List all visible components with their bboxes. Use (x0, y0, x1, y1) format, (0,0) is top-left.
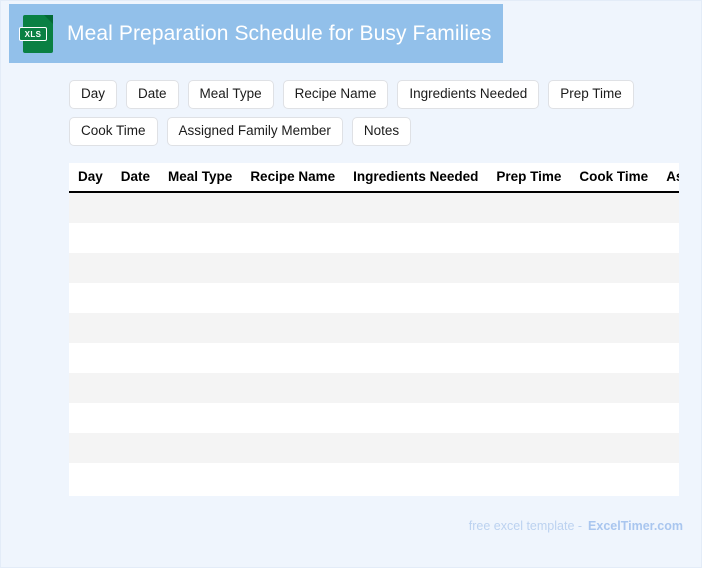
table-header-row: DayDateMeal TypeRecipe NameIngredients N… (69, 163, 679, 192)
table-column-header: Meal Type (159, 163, 241, 192)
table-row[interactable] (69, 373, 679, 403)
table-row[interactable] (69, 313, 679, 343)
table-cell[interactable] (159, 283, 241, 313)
table-cell[interactable] (344, 253, 487, 283)
table-column-header: Recipe Name (241, 163, 344, 192)
table-row[interactable] (69, 192, 679, 223)
table-cell[interactable] (159, 313, 241, 343)
table-cell[interactable] (69, 373, 112, 403)
table-cell[interactable] (159, 223, 241, 253)
xls-icon-badge: XLS (19, 27, 47, 41)
table-cell[interactable] (69, 433, 112, 463)
column-chip-notes[interactable]: Notes (352, 117, 411, 146)
table-cell[interactable] (570, 313, 657, 343)
xls-file-icon: XLS (23, 15, 53, 53)
column-chip-recipe-name[interactable]: Recipe Name (283, 80, 389, 109)
table-cell[interactable] (657, 283, 679, 313)
table-row[interactable] (69, 463, 679, 493)
table-row[interactable] (69, 253, 679, 283)
table-cell[interactable] (487, 192, 570, 223)
column-chip-cook-time[interactable]: Cook Time (69, 117, 158, 146)
table-cell[interactable] (112, 253, 159, 283)
table-cell[interactable] (657, 343, 679, 373)
schedule-table: DayDateMeal TypeRecipe NameIngredients N… (69, 163, 679, 493)
column-chip-date[interactable]: Date (126, 80, 179, 109)
table-cell[interactable] (159, 253, 241, 283)
table-cell[interactable] (570, 223, 657, 253)
table-cell[interactable] (241, 223, 344, 253)
table-cell[interactable] (570, 373, 657, 403)
table-cell[interactable] (241, 283, 344, 313)
table-cell[interactable] (112, 283, 159, 313)
table-cell[interactable] (69, 403, 112, 433)
table-cell[interactable] (570, 433, 657, 463)
footer-brand-link[interactable]: ExcelTimer.com (588, 519, 683, 533)
spreadsheet-preview: DayDateMeal TypeRecipe NameIngredients N… (69, 163, 679, 496)
table-cell[interactable] (69, 463, 112, 493)
table-cell[interactable] (657, 433, 679, 463)
table-cell[interactable] (344, 373, 487, 403)
table-cell[interactable] (487, 403, 570, 433)
table-cell[interactable] (112, 403, 159, 433)
table-cell[interactable] (344, 283, 487, 313)
table-cell[interactable] (69, 343, 112, 373)
table-cell[interactable] (657, 403, 679, 433)
table-cell[interactable] (69, 283, 112, 313)
table-row[interactable] (69, 433, 679, 463)
page-header-bar: XLS Meal Preparation Schedule for Busy F… (9, 4, 503, 63)
table-cell[interactable] (241, 192, 344, 223)
table-cell[interactable] (570, 343, 657, 373)
table-column-header: Day (69, 163, 112, 192)
table-cell[interactable] (344, 463, 487, 493)
table-cell[interactable] (570, 192, 657, 223)
table-cell[interactable] (112, 433, 159, 463)
table-cell[interactable] (487, 313, 570, 343)
column-chip-list: Day Date Meal Type Recipe Name Ingredien… (69, 80, 669, 146)
xls-icon-fold (44, 15, 53, 24)
table-cell[interactable] (487, 283, 570, 313)
table-cell[interactable] (344, 192, 487, 223)
table-cell[interactable] (657, 192, 679, 223)
table-cell[interactable] (570, 463, 657, 493)
table-cell[interactable] (69, 192, 112, 223)
column-chip-prep-time[interactable]: Prep Time (548, 80, 634, 109)
table-cell[interactable] (241, 313, 344, 343)
template-page: XLS Meal Preparation Schedule for Busy F… (0, 0, 702, 568)
table-column-header: Ingredients Needed (344, 163, 487, 192)
column-chip-ingredients-needed[interactable]: Ingredients Needed (397, 80, 539, 109)
footer-text: free excel template - (469, 519, 582, 533)
table-cell[interactable] (241, 343, 344, 373)
table-cell[interactable] (487, 373, 570, 403)
table-cell[interactable] (487, 223, 570, 253)
table-column-header: Date (112, 163, 159, 192)
table-cell[interactable] (159, 403, 241, 433)
column-chip-day[interactable]: Day (69, 80, 117, 109)
table-cell[interactable] (112, 463, 159, 493)
table-cell[interactable] (344, 313, 487, 343)
table-cell[interactable] (487, 343, 570, 373)
table-body (69, 192, 679, 493)
table-cell[interactable] (159, 343, 241, 373)
footer-credit: free excel template -ExcelTimer.com (469, 519, 683, 533)
page-title: Meal Preparation Schedule for Busy Famil… (67, 22, 492, 46)
table-cell[interactable] (112, 313, 159, 343)
table-row[interactable] (69, 343, 679, 373)
table-cell[interactable] (159, 433, 241, 463)
table-row[interactable] (69, 403, 679, 433)
table-cell[interactable] (344, 403, 487, 433)
table-row[interactable] (69, 223, 679, 253)
table-cell[interactable] (570, 403, 657, 433)
table-cell[interactable] (112, 223, 159, 253)
table-cell[interactable] (69, 253, 112, 283)
table-cell[interactable] (344, 223, 487, 253)
table-cell[interactable] (570, 283, 657, 313)
table-cell[interactable] (159, 463, 241, 493)
column-chip-meal-type[interactable]: Meal Type (188, 80, 274, 109)
table-cell[interactable] (159, 192, 241, 223)
table-cell[interactable] (241, 373, 344, 403)
table-cell[interactable] (112, 373, 159, 403)
table-cell[interactable] (69, 223, 112, 253)
table-row[interactable] (69, 283, 679, 313)
table-cell[interactable] (657, 373, 679, 403)
table-cell[interactable] (241, 463, 344, 493)
table-header: DayDateMeal TypeRecipe NameIngredients N… (69, 163, 679, 192)
table-cell[interactable] (657, 253, 679, 283)
table-cell[interactable] (112, 343, 159, 373)
column-chip-assigned-family-member[interactable]: Assigned Family Member (167, 117, 343, 146)
table-cell[interactable] (657, 223, 679, 253)
table-cell[interactable] (487, 253, 570, 283)
table-cell[interactable] (344, 433, 487, 463)
table-cell[interactable] (69, 313, 112, 343)
table-cell[interactable] (241, 433, 344, 463)
table-cell[interactable] (112, 192, 159, 223)
table-column-header: Prep Time (487, 163, 570, 192)
table-cell[interactable] (241, 403, 344, 433)
table-cell[interactable] (487, 433, 570, 463)
table-cell[interactable] (657, 313, 679, 343)
table-column-header: Cook Time (570, 163, 657, 192)
table-cell[interactable] (657, 463, 679, 493)
table-column-header: Assigned Family Member (657, 163, 679, 192)
table-cell[interactable] (344, 343, 487, 373)
table-cell[interactable] (241, 253, 344, 283)
table-cell[interactable] (487, 463, 570, 493)
table-cell[interactable] (570, 253, 657, 283)
table-cell[interactable] (159, 373, 241, 403)
